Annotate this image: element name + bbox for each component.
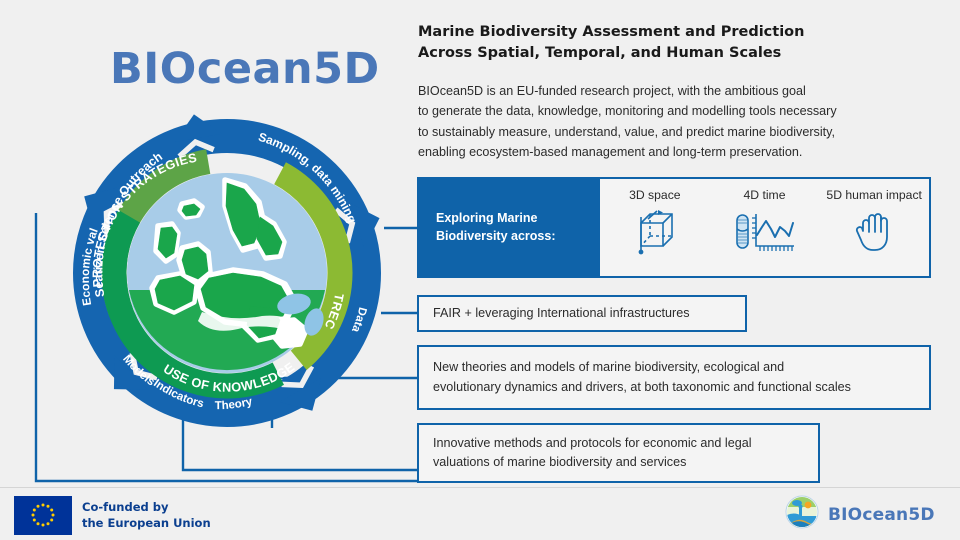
- dimension-4d-time: 4D time: [710, 179, 820, 276]
- callout-line: FAIR + leveraging International infrastr…: [433, 304, 690, 323]
- headline-line-2: Across Spatial, Temporal, and Human Scal…: [418, 43, 948, 64]
- eu-funding-text: Co-funded by the European Union: [82, 500, 211, 531]
- biocean5d-logo-icon: [785, 495, 819, 534]
- eu-funding-line-2: the European Union: [82, 516, 211, 532]
- callout-innovative: Innovative methods and protocols for eco…: [417, 423, 820, 483]
- intro-line-3: to sustainably measure, understand, valu…: [418, 122, 938, 142]
- intro-line-4: enabling ecosystem-based management and …: [418, 142, 938, 162]
- exploring-label-line-2: Biodiversity across:: [436, 228, 556, 246]
- eu-funding-logo: Co-funded by the European Union: [14, 496, 211, 535]
- callout-line: Innovative methods and protocols for eco…: [433, 434, 752, 453]
- hand-icon: [853, 209, 895, 260]
- biocean5d-footer-name: BIOcean5D: [828, 505, 935, 525]
- exploring-dimensions-panel: Exploring Marine Biodiversity across: 3D…: [417, 177, 931, 278]
- dimension-3d-space: 3D space: [600, 179, 710, 276]
- exploring-label-line-1: Exploring Marine: [436, 210, 556, 228]
- europe-map-globe: [127, 173, 327, 373]
- dimension-label: 5D human impact: [826, 188, 922, 202]
- page-title: Marine Biodiversity Assessment and Predi…: [418, 22, 948, 64]
- dimension-list: 3D space: [600, 179, 929, 276]
- callout-fair: FAIR + leveraging International infrastr…: [417, 295, 747, 332]
- dimension-label: 4D time: [744, 188, 786, 202]
- dimension-label: 3D space: [629, 188, 681, 202]
- intro-line-1: BIOcean5D is an EU-funded research proje…: [418, 81, 938, 101]
- intro-line-2: to generate the data, knowledge, monitor…: [418, 101, 938, 121]
- cube-icon: [631, 209, 679, 260]
- cycle-diagram: Seatizen Science Outreach Sampling, data…: [62, 108, 392, 438]
- eu-flag-icon: [14, 496, 72, 535]
- headline-line-1: Marine Biodiversity Assessment and Predi…: [418, 22, 948, 43]
- exploring-label-block: Exploring Marine Biodiversity across:: [419, 179, 600, 276]
- infographic-stage: BIOcean5D: [0, 0, 960, 540]
- timeseries-icon: [734, 209, 796, 260]
- callout-line: New theories and models of marine biodiv…: [433, 358, 851, 377]
- dimension-5d-human-impact: 5D human impact: [819, 179, 929, 276]
- biocean5d-footer-brand: BIOcean5D: [785, 495, 935, 534]
- callout-line: evolutionary dynamics and drivers, at bo…: [433, 378, 851, 397]
- eu-funding-line-1: Co-funded by: [82, 500, 211, 516]
- intro-paragraph: BIOcean5D is an EU-funded research proje…: [418, 81, 938, 163]
- callout-line: valuations of marine biodiversity and se…: [433, 453, 752, 472]
- callout-theories: New theories and models of marine biodiv…: [417, 345, 931, 410]
- biocean5d-wordmark: BIOcean5D: [110, 44, 380, 94]
- footer-divider: [0, 487, 960, 488]
